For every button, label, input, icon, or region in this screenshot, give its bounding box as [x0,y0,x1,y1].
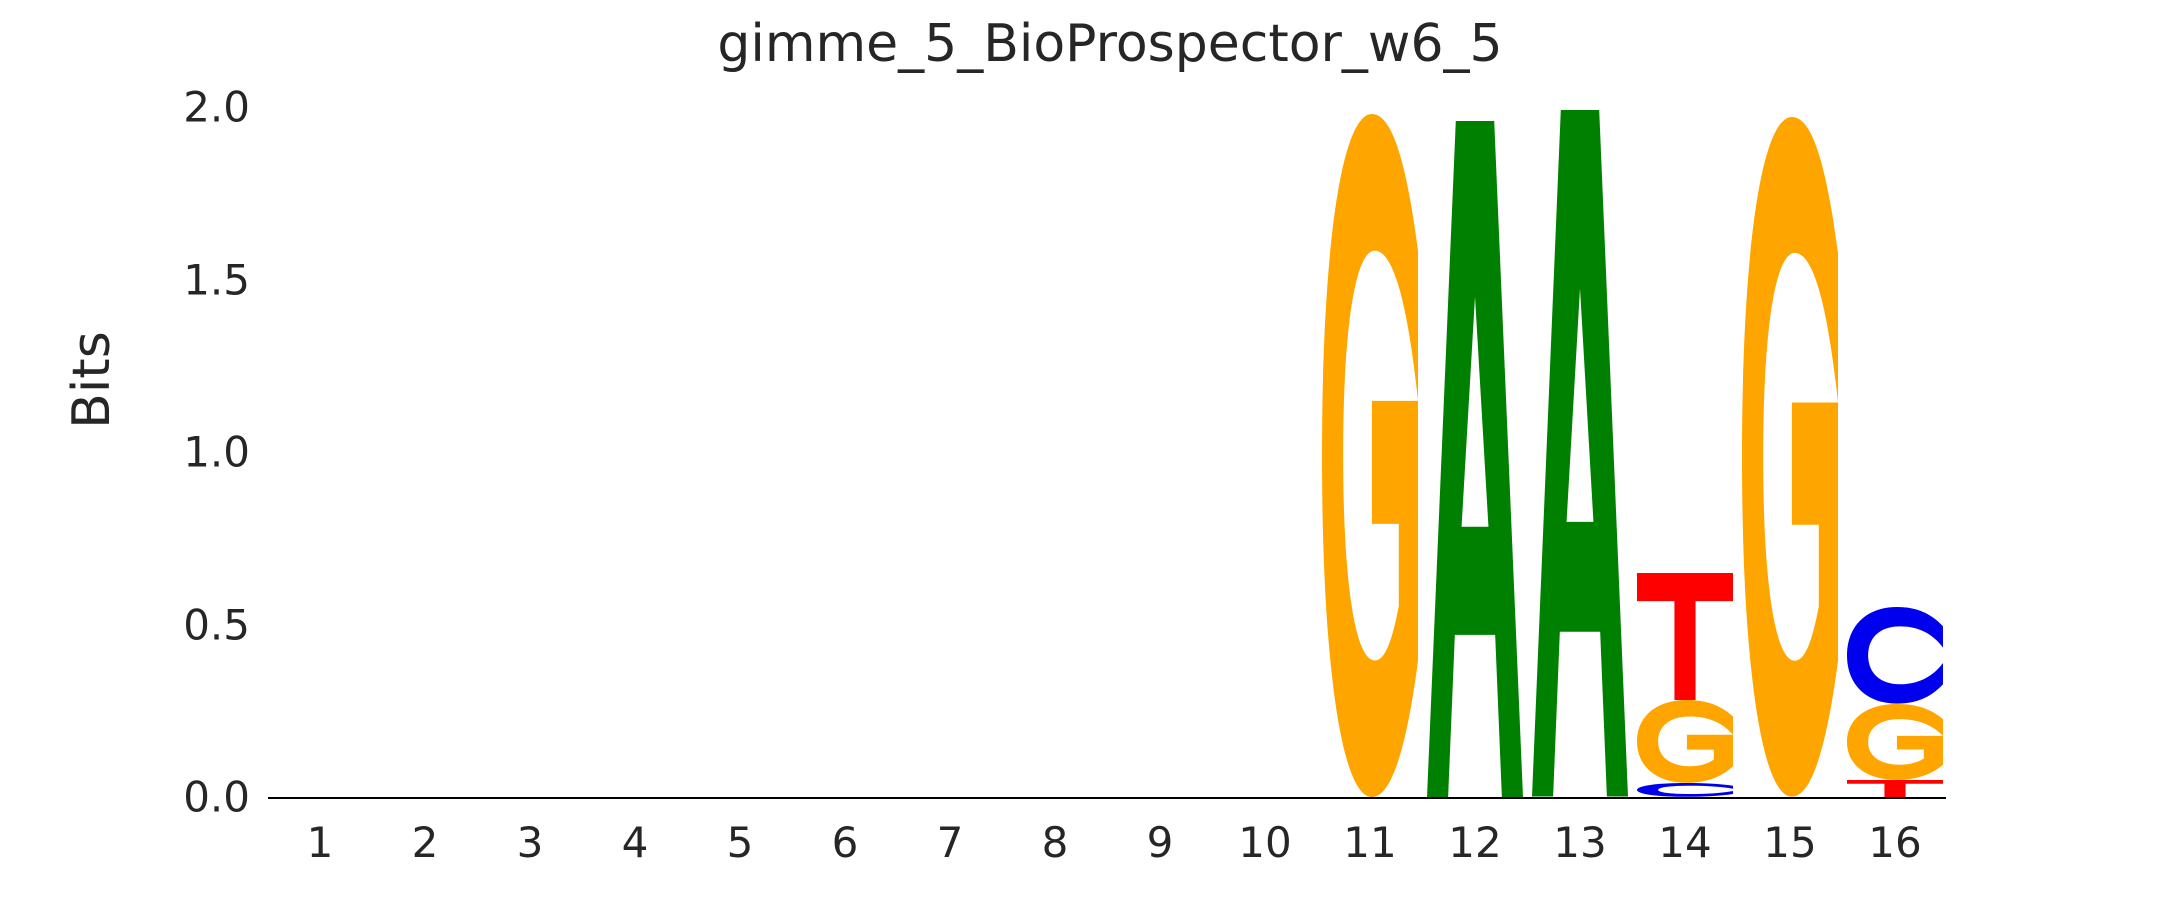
logo-letter-g [1637,700,1733,783]
logo-stack [1637,573,1733,797]
x-tick-label: 15 [1735,818,1845,867]
x-tick-label: 6 [790,818,900,867]
x-tick-label: 10 [1210,818,1320,867]
sequence-logo-figure: gimme_5_BioProspector_w6_5 Bits 0.00.51.… [0,0,2160,900]
logo-letter-a [1427,121,1523,797]
x-tick-label: 3 [475,818,585,867]
logo-letter-a [1532,110,1628,797]
logo-letter-c [1637,783,1733,797]
x-tick-label: 12 [1420,818,1530,867]
y-tick-label: 1.5 [130,255,250,304]
x-tick-label: 13 [1525,818,1635,867]
logo-letter-t [1847,780,1943,797]
logo-letter-g [1847,704,1943,780]
y-tick-label: 1.0 [130,428,250,477]
x-tick-label: 8 [1000,818,1110,867]
logo-letter-c [1847,607,1943,704]
x-tick-label: 2 [370,818,480,867]
logo-stack [1532,110,1628,797]
x-tick-label: 16 [1840,818,1950,867]
x-tick-label: 9 [1105,818,1215,867]
x-axis-line [268,797,1946,799]
x-tick-label: 7 [895,818,1005,867]
x-tick-label: 5 [685,818,795,867]
y-tick-label: 0.0 [130,773,250,822]
y-axis-ticks: 0.00.51.01.52.0 [110,0,250,900]
logo-letter-g [1742,117,1838,797]
logo-stack [1427,121,1523,797]
y-tick-label: 2.0 [130,83,250,132]
logo-letter-g [1322,114,1418,797]
x-tick-label: 4 [580,818,690,867]
x-tick-label: 1 [265,818,375,867]
logo-stack [1742,117,1838,797]
x-tick-label: 14 [1630,818,1740,867]
y-tick-label: 0.5 [130,600,250,649]
plot-area [268,60,1946,798]
logo-letter-t [1637,573,1733,701]
x-tick-label: 11 [1315,818,1425,867]
logo-stack [1847,607,1943,797]
logo-stack [1322,114,1418,797]
